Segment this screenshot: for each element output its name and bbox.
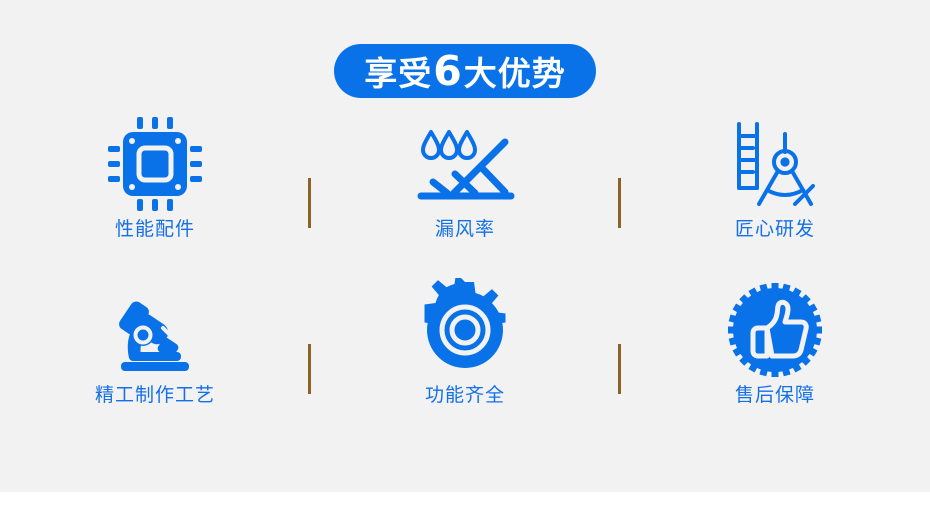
cpu-chip-icon: [103, 112, 207, 216]
feature-item-after-sales[interactable]: 售后保障: [620, 278, 930, 444]
feature-label: 性能配件: [115, 220, 195, 239]
thumbs-up-badge-icon: [723, 278, 827, 382]
feature-label: 售后保障: [735, 386, 815, 405]
feature-item-ingenious-rd[interactable]: 匠心研发: [620, 112, 930, 278]
feature-grid: 性能配件: [0, 112, 930, 444]
title-prefix: 享受: [364, 57, 432, 90]
feature-item-performance-components[interactable]: 性能配件: [0, 112, 310, 278]
promo-banner: 享受6大优势: [0, 0, 930, 519]
feature-item-full-featured[interactable]: 功能齐全: [310, 278, 620, 444]
title-pill: 享受6大优势: [334, 44, 596, 98]
feature-label: 漏风率: [435, 220, 495, 239]
page-title: 享受6大优势: [364, 51, 566, 92]
ruler-compass-icon: [723, 112, 827, 216]
feature-label: 匠心研发: [735, 220, 815, 239]
water-droplets-fabric-icon: [413, 112, 517, 216]
feature-label: 精工制作工艺: [95, 386, 215, 405]
microscope-icon: [103, 278, 207, 382]
title-suffix: 大优势: [464, 57, 566, 90]
feature-item-air-leakage-rate[interactable]: 漏风率: [310, 112, 620, 278]
feature-label: 功能齐全: [425, 386, 505, 405]
feature-item-precision-craft[interactable]: 精工制作工艺: [0, 278, 310, 444]
title-number: 6: [432, 51, 464, 92]
gear-icon: [413, 278, 517, 382]
title-banner: 享受6大优势: [0, 44, 930, 98]
